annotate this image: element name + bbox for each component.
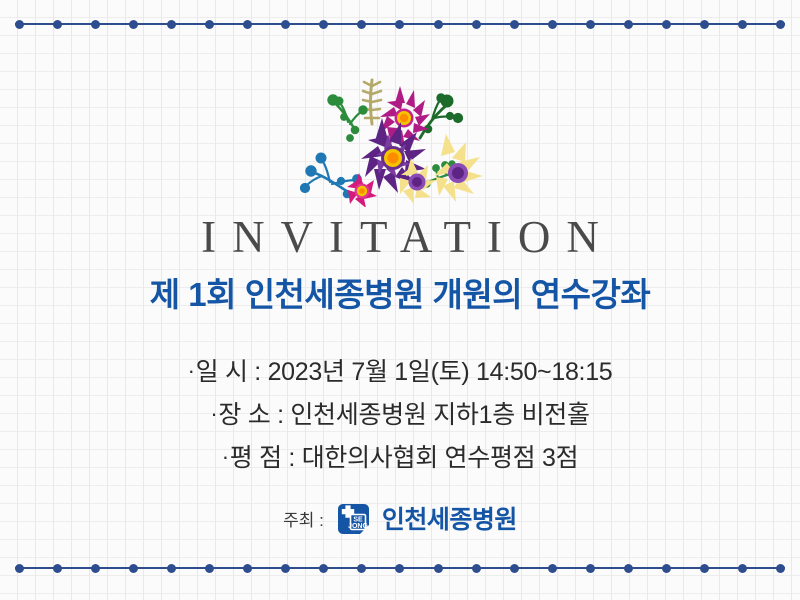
- dot-icon: [91, 20, 100, 29]
- dot-icon: [15, 20, 24, 29]
- dot-icon: [700, 20, 709, 29]
- bullet-icon: ·: [222, 444, 229, 469]
- dot-icon: [434, 564, 443, 573]
- dot-icon: [548, 564, 557, 573]
- dot-icon: [472, 20, 481, 29]
- bottom-border-rule: [15, 560, 785, 576]
- dot-icon: [472, 564, 481, 573]
- dot-icon: [129, 564, 138, 573]
- dot-icon: [357, 20, 366, 29]
- dot-icon: [738, 564, 747, 573]
- dot-icon: [738, 20, 747, 29]
- floral-bouquet-illustration: [300, 72, 500, 207]
- detail-line-venue-text: 장 소 : 인천세종병원 지하1층 비전홀: [218, 401, 589, 429]
- dot-icon: [243, 20, 252, 29]
- detail-line-datetime: ·일 시 : 2023년 7월 1일(토) 14:50~18:15: [0, 350, 800, 393]
- bullet-icon: ·: [188, 358, 195, 383]
- organiser-row: 주최 : SE JONG 인천세종병원: [0, 498, 800, 538]
- hospital-name: 인천세종병원: [382, 500, 517, 536]
- dot-icon: [357, 564, 366, 573]
- invitation-title: INVITATION: [0, 215, 800, 260]
- dot-icon: [167, 564, 176, 573]
- dot-icon: [662, 564, 671, 573]
- page-title: 제 1회 인천세종병원 개원의 연수강좌: [0, 276, 800, 314]
- dot-icon: [395, 20, 404, 29]
- dot-icon: [510, 564, 519, 573]
- organiser-label: 주최 :: [283, 506, 324, 531]
- dot-icon: [662, 20, 671, 29]
- dot-icon: [624, 564, 633, 573]
- dot-icon: [434, 20, 443, 29]
- dot-icon: [319, 564, 328, 573]
- dot-icon: [243, 564, 252, 573]
- dot-icon: [205, 564, 214, 573]
- detail-line-venue: ·장 소 : 인천세종병원 지하1층 비전홀: [0, 393, 800, 436]
- dot-icon: [281, 564, 290, 573]
- dot-icon: [319, 20, 328, 29]
- detail-line-datetime-text: 일 시 : 2023년 7월 1일(토) 14:50~18:15: [196, 358, 613, 386]
- dot-icon: [776, 564, 785, 573]
- dot-icon: [167, 20, 176, 29]
- dot-icon: [205, 20, 214, 29]
- dot-icon: [15, 564, 24, 573]
- invitation-card: INVITATION 제 1회 인천세종병원 개원의 연수강좌 ·일 시 : 2…: [0, 0, 800, 600]
- detail-line-credits-text: 평 점 : 대한의사협회 연수평점 3점: [230, 444, 579, 472]
- dot-icon: [586, 564, 595, 573]
- dot-icon: [129, 20, 138, 29]
- dot-icon: [53, 564, 62, 573]
- event-details: ·일 시 : 2023년 7월 1일(토) 14:50~18:15 ·장 소 :…: [0, 350, 800, 479]
- dot-icon: [548, 20, 557, 29]
- sejong-hospital-logo-icon: SE JONG: [333, 498, 373, 538]
- dot-icon: [53, 20, 62, 29]
- dot-icon: [700, 564, 709, 573]
- detail-line-credits: ·평 점 : 대한의사협회 연수평점 3점: [0, 436, 800, 479]
- dot-icon: [395, 564, 404, 573]
- dot-icon: [510, 20, 519, 29]
- dot-icon: [91, 564, 100, 573]
- top-border-rule: [15, 16, 785, 32]
- bullet-icon: ·: [210, 401, 217, 426]
- svg-text:JONG: JONG: [348, 523, 368, 530]
- dot-icon: [624, 20, 633, 29]
- dot-icon: [281, 20, 290, 29]
- dot-icon: [776, 20, 785, 29]
- dot-icon: [586, 20, 595, 29]
